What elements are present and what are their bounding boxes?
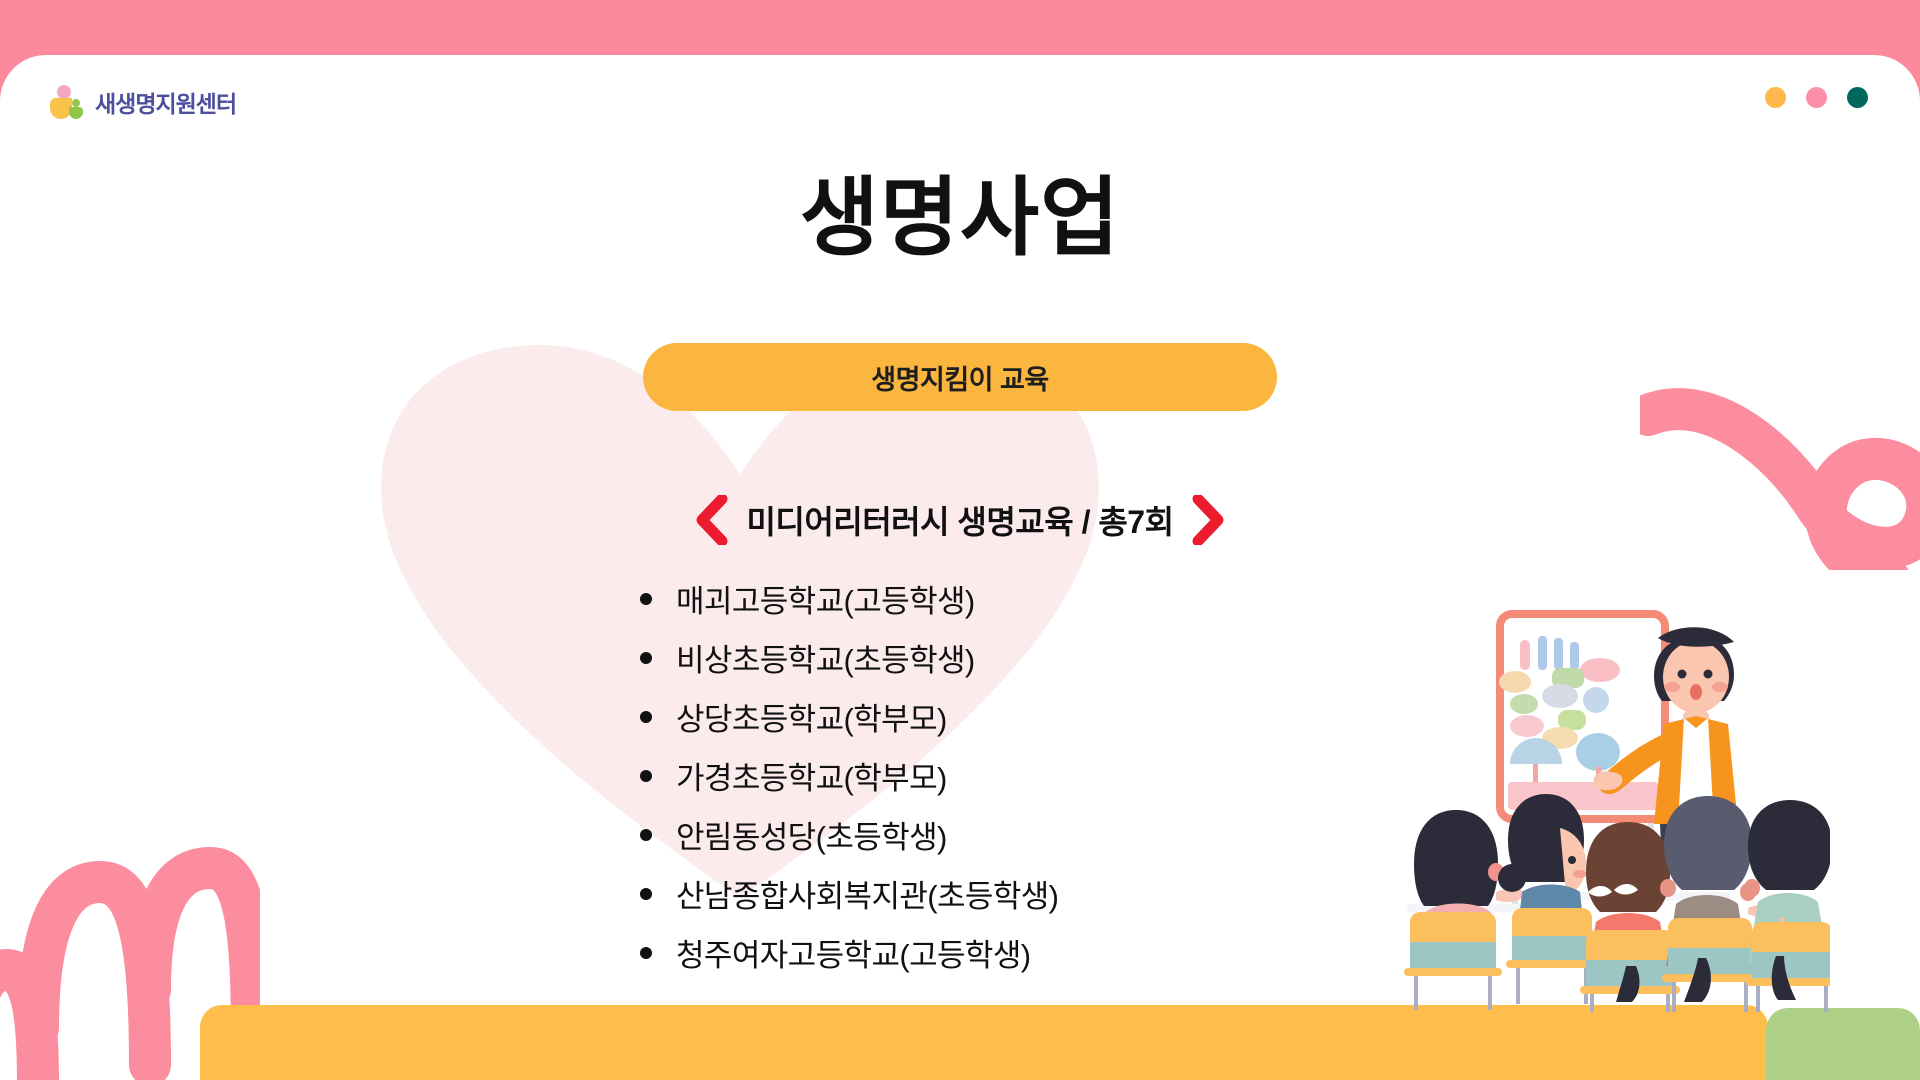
list-item: 가경초등학교(학부모) xyxy=(640,746,1058,805)
dot-yellow xyxy=(1765,87,1786,108)
bullet-dot-icon xyxy=(640,652,652,664)
section-pill-badge: 생명지킴이 교육 xyxy=(643,343,1277,411)
slide-root: 새생명지원센터 생명사업 생명지킴이 교육 미디어리터러시 생명교육 / 총7회 xyxy=(0,0,1920,1080)
bottom-bar-green xyxy=(1766,1008,1920,1080)
dot-green xyxy=(1847,87,1868,108)
list-item: 안림동성당(초등학생) xyxy=(640,805,1058,864)
page-title: 생명사업 xyxy=(0,147,1920,272)
subtitle-row: 미디어리터러시 생명교육 / 총7회 xyxy=(0,495,1920,545)
list-item-label: 매괴고등학교(고등학생) xyxy=(676,576,975,621)
list-item-label: 청주여자고등학교(고등학생) xyxy=(676,930,1031,975)
list-item-label: 가경초등학교(학부모) xyxy=(676,753,947,798)
bullet-dot-icon xyxy=(640,829,652,841)
chevron-right-icon xyxy=(1192,495,1226,545)
list-item: 산남종합사회복지관(초등학생) xyxy=(640,864,1058,923)
decorative-dots xyxy=(1765,87,1868,108)
dot-pink xyxy=(1806,87,1827,108)
brand-name: 새생명지원센터 xyxy=(95,85,236,119)
list-item: 매괴고등학교(고등학생) xyxy=(640,569,1058,628)
subtitle-text: 미디어리터러시 생명교육 / 총7회 xyxy=(746,497,1173,543)
bullet-dot-icon xyxy=(640,888,652,900)
bullet-dot-icon xyxy=(640,593,652,605)
slide-card: 새생명지원센터 생명사업 생명지킴이 교육 미디어리터러시 생명교육 / 총7회 xyxy=(0,55,1920,1080)
section-pill-label: 생명지킴이 교육 xyxy=(871,358,1048,397)
chevron-left-icon xyxy=(694,495,728,545)
bottom-bar-yellow xyxy=(200,1005,1768,1080)
bullet-dot-icon xyxy=(640,770,652,782)
list-item-label: 산남종합사회복지관(초등학생) xyxy=(676,871,1058,916)
classroom-lecture-illustration xyxy=(1400,592,1830,1012)
program-list: 매괴고등학교(고등학생) 비상초등학교(초등학생) 상당초등학교(학부모) 가경… xyxy=(640,569,1058,982)
list-item-label: 상당초등학교(학부모) xyxy=(676,694,947,739)
list-item: 상당초등학교(학부모) xyxy=(640,687,1058,746)
list-item-label: 안림동성당(초등학생) xyxy=(676,812,947,857)
bullet-dot-icon xyxy=(640,711,652,723)
brand-logo[interactable]: 새생명지원센터 xyxy=(48,85,236,119)
parent-child-logo-icon xyxy=(48,85,84,119)
list-item: 청주여자고등학교(고등학생) xyxy=(640,923,1058,982)
list-item-label: 비상초등학교(초등학생) xyxy=(676,635,975,680)
list-item: 비상초등학교(초등학생) xyxy=(640,628,1058,687)
bullet-dot-icon xyxy=(640,947,652,959)
